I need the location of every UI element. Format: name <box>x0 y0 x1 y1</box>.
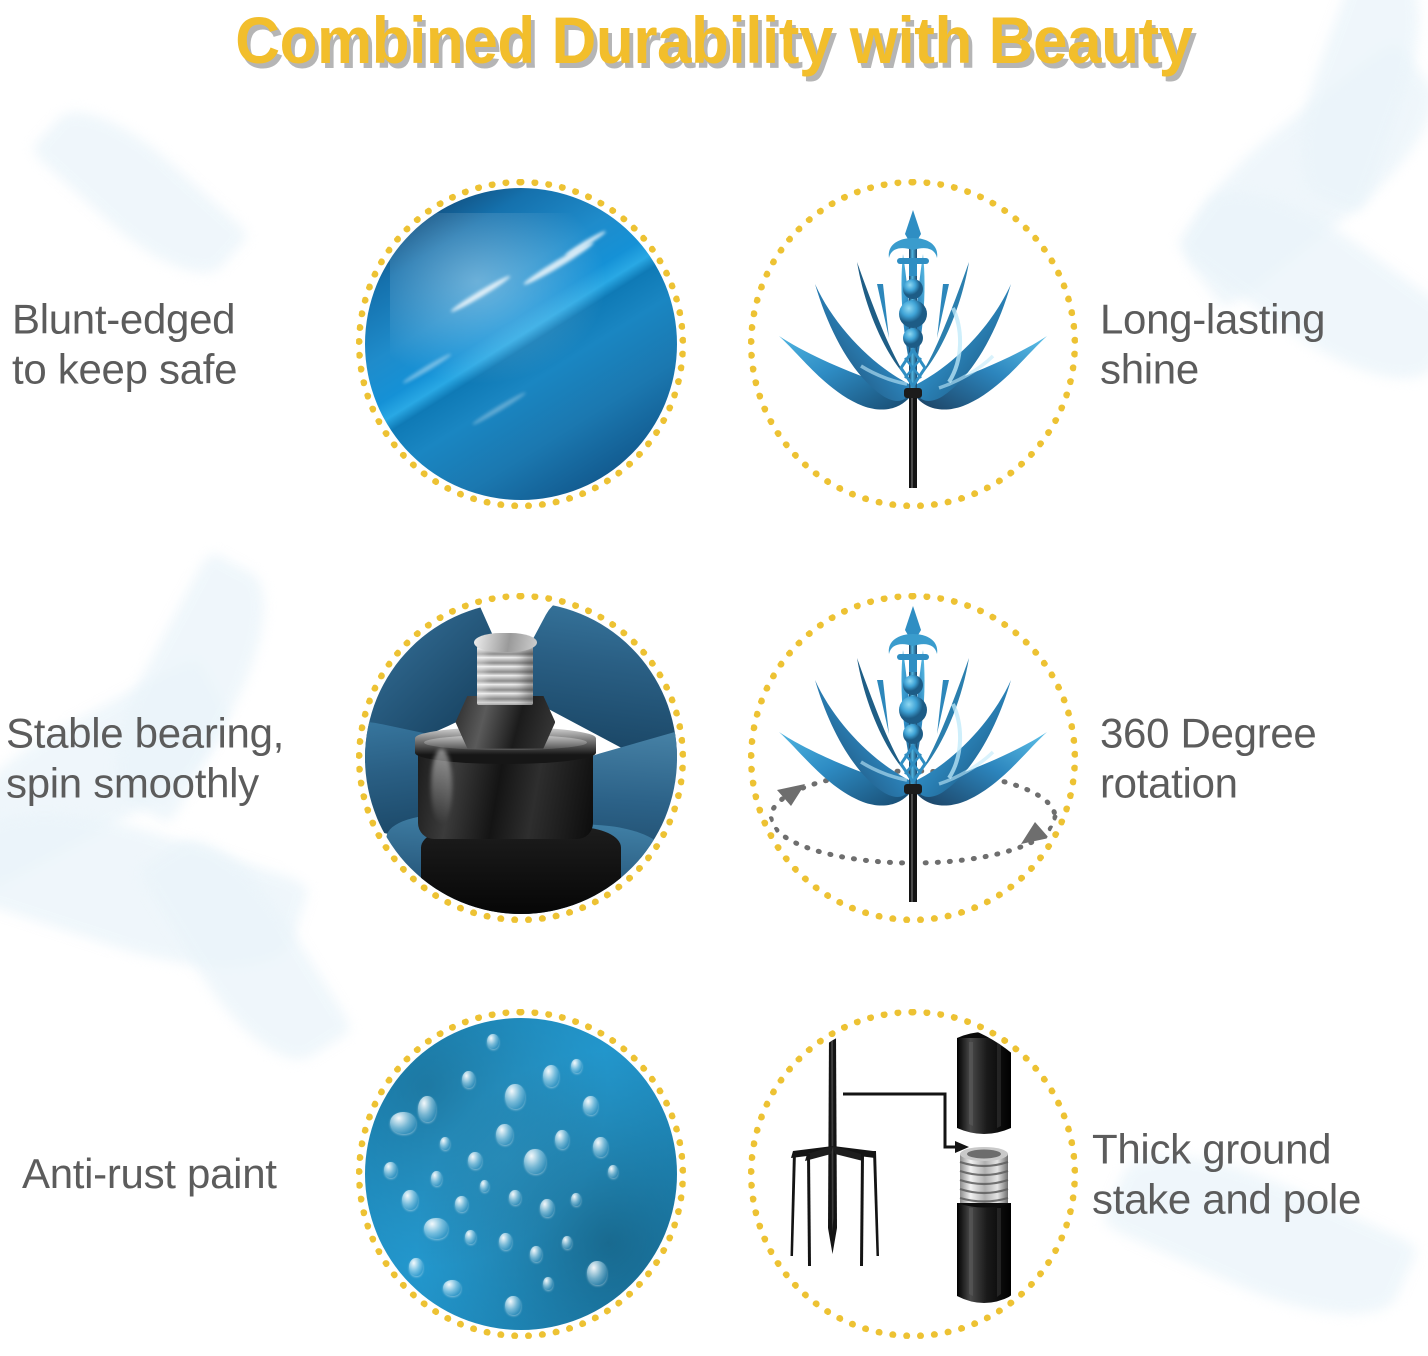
feature-media-anti-rust-paint <box>356 1009 686 1339</box>
feature-media-thick-stake-pole <box>748 1009 1078 1339</box>
feature-stable-bearing: Stable bearing, spin smoothly <box>0 562 714 954</box>
page-title: Combined Durability with Beauty <box>43 2 1385 78</box>
water-droplets-on-paint-photo <box>365 1018 677 1330</box>
connector-line <box>843 1094 957 1147</box>
feature-rotation-360: 360 Degree rotation <box>714 562 1428 954</box>
pole-upper-segment <box>957 1032 1011 1134</box>
feature-rows: Blunt-edged to keep safe <box>0 0 1428 1356</box>
feature-label-anti-rust-paint: Anti-rust paint <box>22 1149 362 1199</box>
feature-label-long-lasting-shine: Long-lasting shine <box>1100 294 1428 393</box>
product-feature-infographic: Combined Durability with Beauty Blunt-ed… <box>0 0 1428 1356</box>
wind-spinner-rotation-illustration <box>757 602 1069 914</box>
feature-media-stable-bearing <box>356 593 686 923</box>
bearing-hub-closeup-photo <box>365 602 677 914</box>
feature-row-3: Anti-rust paint <box>0 978 1428 1356</box>
feature-label-stable-bearing: Stable bearing, spin smoothly <box>6 708 356 807</box>
stake-and-pole-graphic <box>757 1018 1069 1330</box>
feature-media-blunt-edge <box>356 179 686 509</box>
blade-edge-closeup-photo <box>365 188 677 500</box>
feature-label-blunt-edge: Blunt-edged to keep safe <box>12 294 342 393</box>
ground-stake-and-pole-illustration <box>757 1018 1069 1330</box>
feature-media-long-lasting-shine <box>748 179 1078 509</box>
feature-media-rotation-360 <box>748 593 1078 923</box>
feature-label-thick-stake-pole: Thick ground stake and pole <box>1092 1124 1428 1223</box>
feature-row-2: Stable bearing, spin smoothly <box>0 562 1428 954</box>
feature-label-rotation-360: 360 Degree rotation <box>1100 708 1428 807</box>
wind-spinner-illustration <box>757 188 1069 500</box>
feature-row-1: Blunt-edged to keep safe <box>0 148 1428 540</box>
wind-spinner-graphic <box>757 188 1069 500</box>
wind-spinner-rotation-graphic <box>757 602 1069 914</box>
feature-blunt-edge: Blunt-edged to keep safe <box>0 148 714 540</box>
feature-long-lasting-shine: Long-lasting shine <box>714 148 1428 540</box>
feature-anti-rust-paint: Anti-rust paint <box>0 978 714 1356</box>
feature-thick-stake-pole: Thick ground stake and pole <box>714 978 1428 1356</box>
pole-lower-segment-with-thread <box>957 1147 1011 1303</box>
ground-stake-graphic <box>791 1034 880 1266</box>
